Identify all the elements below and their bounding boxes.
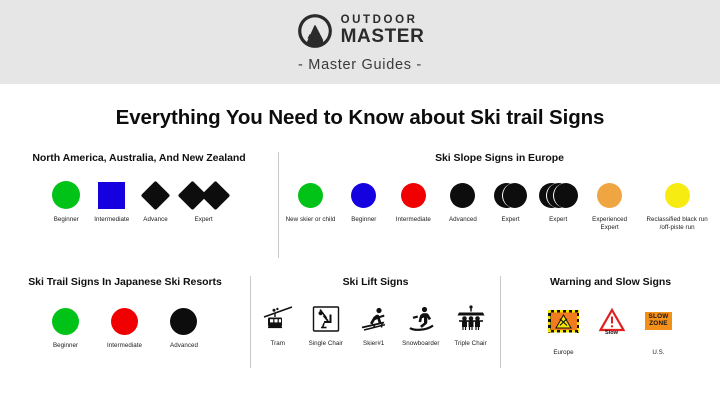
- slow-zone-sign-icon: SLOW ZONE: [645, 300, 673, 342]
- sign-label: Europe: [553, 349, 573, 357]
- black-diamond-icon: [145, 174, 166, 216]
- orange-circle-icon: [597, 174, 622, 216]
- sign-label: Experienced Expert: [592, 216, 627, 233]
- red-circle-icon: [111, 300, 138, 342]
- logo-text-outdoor: OUTDOOR: [341, 15, 425, 27]
- sign-item: Beginner: [52, 300, 79, 350]
- panel-ski-lifts: Ski Lift Signs: [250, 276, 500, 368]
- panel-title: Ski Lift Signs: [259, 276, 492, 288]
- skier-icon: [358, 298, 390, 340]
- blue-circle-icon: [351, 174, 376, 216]
- sign-item: Intermediate: [392, 174, 435, 224]
- sign-item: SLOW ZONE U.S.: [645, 300, 673, 357]
- red-circle-icon: [401, 174, 426, 216]
- sign-item: Reclassified black run /off-piste run: [640, 174, 714, 233]
- panel-title: North America, Australia, And New Zealan…: [10, 152, 268, 164]
- sign-item: New skier or child: [285, 174, 336, 224]
- sign-label: Advanced: [170, 342, 198, 350]
- logo-text-master: MASTER: [341, 27, 425, 46]
- mountain-circle-logo-icon: [296, 12, 334, 50]
- green-circle-icon: [52, 300, 79, 342]
- black-circle-icon: [450, 174, 475, 216]
- sign-label: Triple Chair: [454, 340, 486, 348]
- sign-item: Europe: [549, 300, 579, 357]
- slow-triangle-sign-icon: Slow: [599, 300, 625, 342]
- sign-label: Snowboarder: [402, 340, 439, 348]
- sign-item: Skier#1: [355, 298, 393, 348]
- sign-item: Expert: [491, 174, 531, 224]
- double-black-diamond-icon: [182, 174, 226, 216]
- panel-north-america: North America, Australia, And New Zealan…: [0, 152, 278, 258]
- europe-hazard-sign-icon: [549, 300, 579, 342]
- sign-label: Intermediate: [396, 216, 431, 224]
- sign-item: Advanced: [170, 300, 198, 350]
- triple-black-circle-icon: [539, 174, 578, 216]
- sign-label: Beginner: [53, 342, 78, 350]
- sign-label: Intermediate: [94, 216, 129, 224]
- blue-square-icon: [98, 174, 125, 216]
- sign-label: U.S.: [652, 349, 664, 357]
- sign-label: Skier#1: [363, 340, 384, 348]
- sign-item: Expert: [182, 174, 226, 224]
- sign-item: Beginner: [343, 174, 385, 224]
- tram-gondola-icon: [262, 298, 294, 340]
- sign-label: Advanced: [449, 216, 477, 224]
- panel-japan: Ski Trail Signs In Japanese Ski Resorts …: [0, 276, 250, 368]
- sign-label: New skier or child: [286, 216, 336, 224]
- triple-chair-icon: [455, 298, 487, 340]
- snowboarder-icon: [405, 298, 437, 340]
- top-row: North America, Australia, And New Zealan…: [0, 152, 720, 258]
- sign-item: Experienced Expert: [586, 174, 633, 233]
- sign-item: Slow: [599, 300, 625, 342]
- single-chair-icon: [310, 298, 342, 340]
- logo: OUTDOOR MASTER: [296, 12, 425, 50]
- sign-item: Advance: [143, 174, 167, 224]
- slow-sign-text: Slow: [605, 330, 618, 336]
- bottom-row: Ski Trail Signs In Japanese Ski Resorts …: [0, 276, 720, 368]
- sign-label: Expert: [195, 216, 213, 224]
- sign-label: Reclassified black run /off-piste run: [647, 216, 708, 233]
- panel-europe: Ski Slope Signs in Europe New skier or c…: [278, 152, 720, 258]
- sign-label: Beginner: [351, 216, 376, 224]
- green-circle-icon: [298, 174, 323, 216]
- sign-label: Expert: [501, 216, 519, 224]
- sign-item: Intermediate: [107, 300, 142, 350]
- sign-item: Single Chair: [303, 298, 349, 348]
- slow-zone-line2: ZONE: [649, 321, 668, 328]
- sign-item: Beginner: [52, 174, 80, 224]
- brand-header: OUTDOOR MASTER - Master Guides -: [0, 0, 720, 84]
- sign-item: Expert: [537, 174, 579, 224]
- infographic-page: OUTDOOR MASTER - Master Guides - Everyth…: [0, 0, 720, 405]
- sign-item: Triple Chair: [449, 298, 492, 348]
- sign-label: Tram: [271, 340, 285, 348]
- sign-label: Intermediate: [107, 342, 142, 350]
- panel-title: Warning and Slow Signs: [509, 276, 712, 288]
- panel-title: Ski Trail Signs In Japanese Ski Resorts: [10, 276, 240, 288]
- tagline: - Master Guides -: [298, 57, 422, 73]
- double-black-circle-icon: [494, 174, 527, 216]
- yellow-circle-icon: [665, 174, 690, 216]
- black-circle-icon: [170, 300, 197, 342]
- sign-label: Single Chair: [309, 340, 343, 348]
- panel-title: Ski Slope Signs in Europe: [285, 152, 714, 164]
- green-circle-icon: [52, 174, 80, 216]
- sign-item: Advanced: [442, 174, 484, 224]
- sign-item: Tram: [259, 298, 297, 348]
- sign-item: Snowboarder: [398, 298, 443, 348]
- sign-label: Advance: [143, 216, 167, 224]
- sign-item: Intermediate: [94, 174, 129, 224]
- panel-warning-slow: Warning and Slow Signs Europe: [500, 276, 720, 368]
- page-title: Everything You Need to Know about Ski tr…: [0, 106, 720, 130]
- sign-label: Beginner: [54, 216, 79, 224]
- sign-label: Expert: [549, 216, 567, 224]
